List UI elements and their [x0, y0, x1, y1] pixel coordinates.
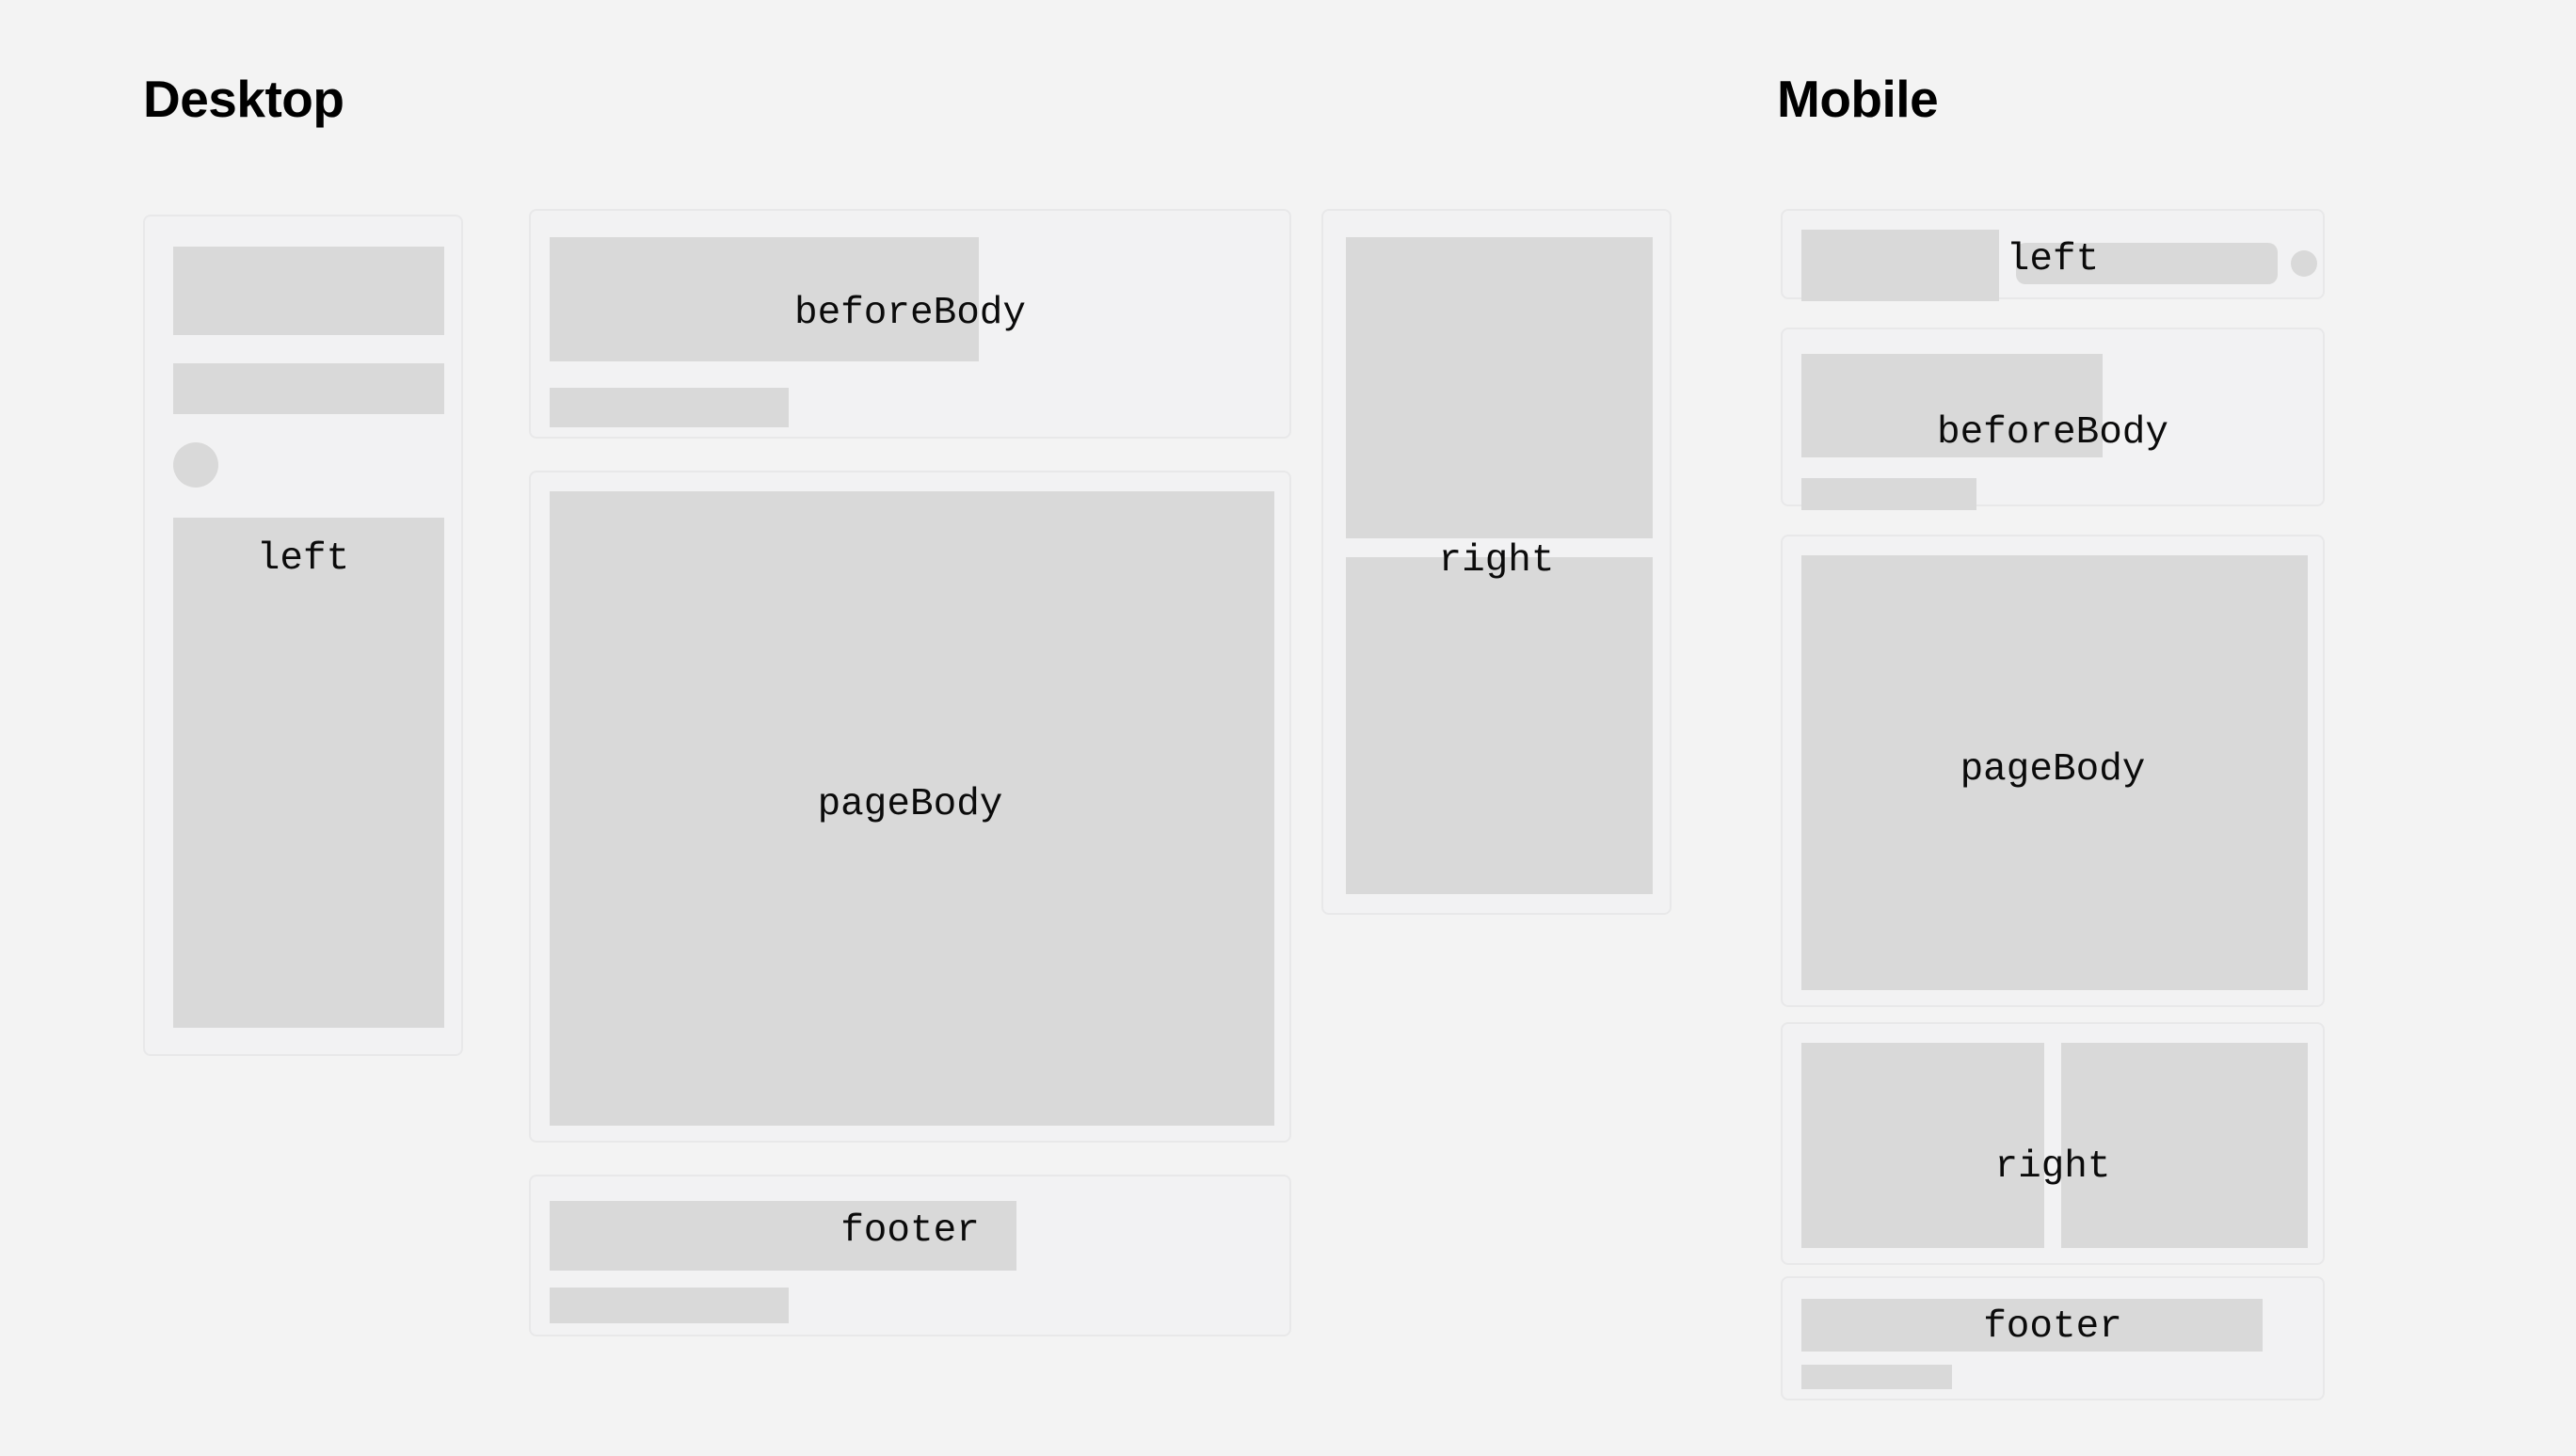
- desktop-slot-footer[interactable]: [529, 1175, 1291, 1336]
- skeleton-secondary-block: [1801, 1365, 1952, 1389]
- skeleton-bar-block: [2016, 243, 2278, 284]
- skeleton-nav-block: [173, 518, 444, 1028]
- wireframe-canvas: Desktop left beforeBody pageBody right f…: [0, 0, 2576, 1456]
- mobile-slot-pagebody[interactable]: [1781, 535, 2325, 1007]
- skeleton-header-block: [173, 247, 444, 335]
- desktop-slot-left[interactable]: [143, 215, 463, 1056]
- skeleton-lower-block: [1346, 557, 1653, 894]
- desktop-slot-pagebody[interactable]: [529, 471, 1291, 1143]
- mobile-slot-footer[interactable]: [1781, 1276, 2325, 1400]
- skeleton-primary-block: [1801, 354, 2103, 457]
- avatar-circle-icon: [2291, 250, 2317, 277]
- mobile-slot-beforebody[interactable]: [1781, 328, 2325, 506]
- skeleton-secondary-block: [550, 1288, 789, 1323]
- mobile-slot-left[interactable]: [1781, 209, 2325, 299]
- skeleton-primary-block: [550, 1201, 1016, 1271]
- skeleton-content-block: [550, 491, 1274, 1126]
- skeleton-left-block: [1801, 1043, 2044, 1248]
- skeleton-secondary-block: [550, 388, 789, 427]
- desktop-slot-right[interactable]: [1321, 209, 1672, 915]
- skeleton-content-block: [1801, 555, 2308, 990]
- skeleton-header-block: [1801, 230, 1999, 301]
- skeleton-primary-block: [550, 237, 979, 361]
- mobile-section-heading: Mobile: [1777, 73, 1938, 125]
- skeleton-subheader-block: [173, 363, 444, 414]
- desktop-slot-beforebody[interactable]: [529, 209, 1291, 439]
- mobile-slot-right[interactable]: [1781, 1022, 2325, 1265]
- desktop-section-heading: Desktop: [143, 73, 344, 125]
- skeleton-secondary-block: [1801, 478, 1976, 510]
- skeleton-upper-block: [1346, 237, 1653, 538]
- avatar-circle-icon: [173, 442, 218, 488]
- skeleton-primary-block: [1801, 1299, 2263, 1352]
- skeleton-right-block: [2061, 1043, 2308, 1248]
